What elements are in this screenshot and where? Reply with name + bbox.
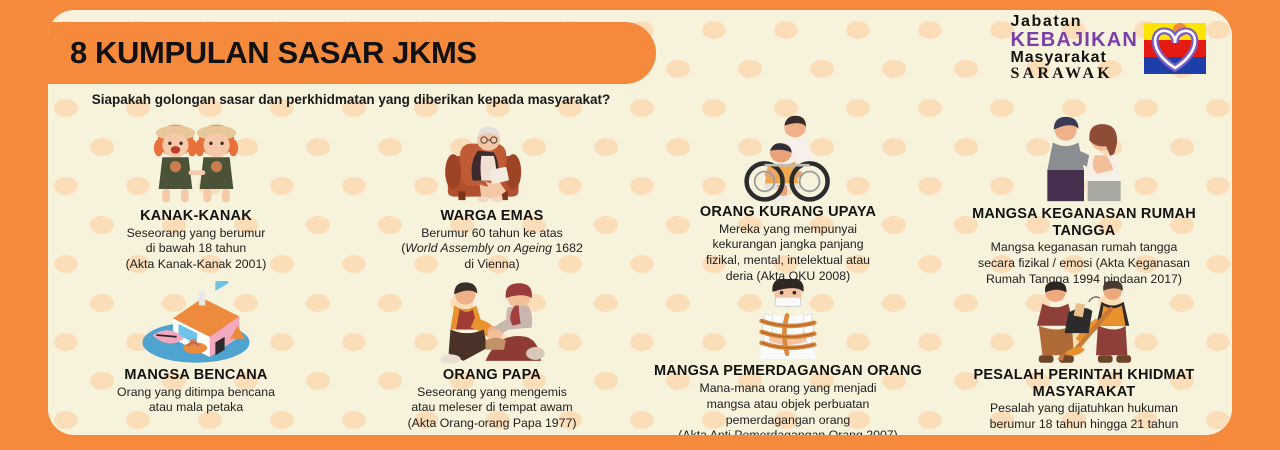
desc-line: kekurangan jangka panjang — [706, 237, 870, 253]
logo-line-masyarakat: Masyarakat — [1011, 50, 1138, 66]
wheelchair-user-icon — [734, 114, 842, 202]
card-mangsa-pemerdagangan-orang: MANGSA PEMERDAGANGAN ORANG Mana-mana ora… — [640, 279, 936, 435]
card-kanak-kanak: KANAK-KANAK Seseorang yang berumur di ba… — [48, 114, 344, 279]
desc-line: Seseorang yang mengemis — [408, 385, 577, 401]
desc-line: secara fizikal / emosi (Akta Keganasan — [978, 256, 1190, 272]
bound-person-icon — [738, 279, 838, 361]
card-title: KANAK-KANAK — [140, 208, 252, 225]
logo-wordmark: Jabatan KEBAJIKAN Masyarakat SARAWAK — [1011, 14, 1138, 82]
desc-line: Mereka yang mempunyai — [706, 222, 870, 238]
card-description: Orang yang ditimpa bencana atau mala pet… — [117, 385, 275, 416]
two-children-icon — [140, 114, 252, 206]
page-title: 8 KUMPULAN SASAR JKMS — [70, 35, 477, 71]
desc-line: Pesalah yang dijatuhkan hukuman — [990, 401, 1179, 417]
logo-line-sarawak: SARAWAK — [1011, 66, 1138, 82]
title-banner: 8 KUMPULAN SASAR JKMS — [48, 22, 656, 84]
desc-line: mangsa atau objek perbuatan — [678, 397, 897, 413]
desc-line: di bawah 18 tahun — [126, 241, 267, 257]
elderly-in-armchair-icon — [439, 114, 545, 206]
infographic-panel: 8 KUMPULAN SASAR JKMS Siapakah golongan … — [48, 10, 1232, 435]
card-description: Mana-mana orang yang menjadi mangsa atau… — [678, 381, 897, 435]
card-description: Seseorang yang berumur di bawah 18 tahun… — [126, 226, 267, 273]
card-title: MANGSA KEGANASAN RUMAH TANGGA — [942, 206, 1226, 239]
homeless-person-icon — [432, 279, 552, 365]
card-description: Berumur 60 tahun ke atas (World Assembly… — [401, 226, 583, 273]
desc-line: Orang yang ditimpa bencana — [117, 385, 275, 401]
card-title: MANGSA BENCANA — [124, 367, 267, 384]
desc-line: (Akta Kanak-Kanak 2001) — [126, 257, 267, 273]
desc-line: Mana-mana orang yang menjadi — [678, 381, 897, 397]
card-title: ORANG KURANG UPAYA — [700, 204, 876, 221]
card-title: ORANG PAPA — [443, 367, 541, 384]
desc-line: di Vienna) — [401, 257, 583, 273]
card-mangsa-keganasan-rumah-tangga: MANGSA KEGANASAN RUMAH TANGGA Mangsa keg… — [936, 114, 1232, 279]
desc-line: fizikal, mental, intelektual atau — [706, 253, 870, 269]
card-orang-kurang-upaya: ORANG KURANG UPAYA Mereka yang mempunyai… — [640, 114, 936, 279]
card-title: WARGA EMAS — [441, 208, 544, 225]
desc-line: (Akta Orang-orang Papa 1977) — [408, 416, 577, 432]
card-title: MANGSA PEMERDAGANGAN ORANG — [654, 363, 922, 380]
desc-line: (World Assembly on Ageing 1682 — [401, 241, 583, 257]
desc-line: Berumur 60 tahun ke atas — [401, 226, 583, 242]
desc-line: Seseorang yang berumur — [126, 226, 267, 242]
desc-italic: World Assembly on Ageing — [405, 241, 552, 255]
desc-line: berumur 18 tahun hingga 21 tahun — [990, 417, 1179, 433]
logo-line-jabatan: Jabatan — [1011, 14, 1138, 30]
logo-line-kebajikan: KEBAJIKAN — [1011, 30, 1138, 50]
card-description: Seseorang yang mengemis atau meleser di … — [408, 385, 577, 432]
desc-line: (Akta Anti Pemerdagangan Orang 2007) — [678, 428, 897, 435]
community-service-icon — [1024, 279, 1144, 365]
card-orang-papa: ORANG PAPA Seseorang yang mengemis atau … — [344, 279, 640, 435]
desc-line: pemerdagangan orang — [678, 413, 897, 429]
desc-line: atau meleser di tempat awam — [408, 400, 577, 416]
card-description: Mereka yang mempunyai kekurangan jangka … — [706, 222, 870, 285]
domestic-violence-icon — [1029, 114, 1139, 204]
card-mangsa-bencana: MANGSA BENCANA Orang yang ditimpa bencan… — [48, 279, 344, 435]
desc-line: atau mala petaka — [117, 400, 275, 416]
card-title: PESALAH PERINTAH KHIDMAT MASYARAKAT — [942, 367, 1226, 400]
agency-logo: Jabatan KEBAJIKAN Masyarakat SARAWAK — [1011, 14, 1208, 82]
card-pesalah-perintah-khidmat-masyarakat: PESALAH PERINTAH KHIDMAT MASYARAKAT Pesa… — [936, 279, 1232, 435]
subtitle-text: Siapakah golongan sasar dan perkhidmatan… — [66, 90, 636, 110]
target-group-grid: KANAK-KANAK Seseorang yang berumur di ba… — [48, 114, 1232, 435]
heart-ribbon-emblem-icon — [1142, 19, 1208, 77]
desc-line: Mangsa keganasan rumah tangga — [978, 240, 1190, 256]
card-description: Pesalah yang dijatuhkan hukuman berumur … — [990, 401, 1179, 432]
flooded-house-icon — [136, 279, 256, 365]
card-warga-emas: WARGA EMAS Berumur 60 tahun ke atas (Wor… — [344, 114, 640, 279]
